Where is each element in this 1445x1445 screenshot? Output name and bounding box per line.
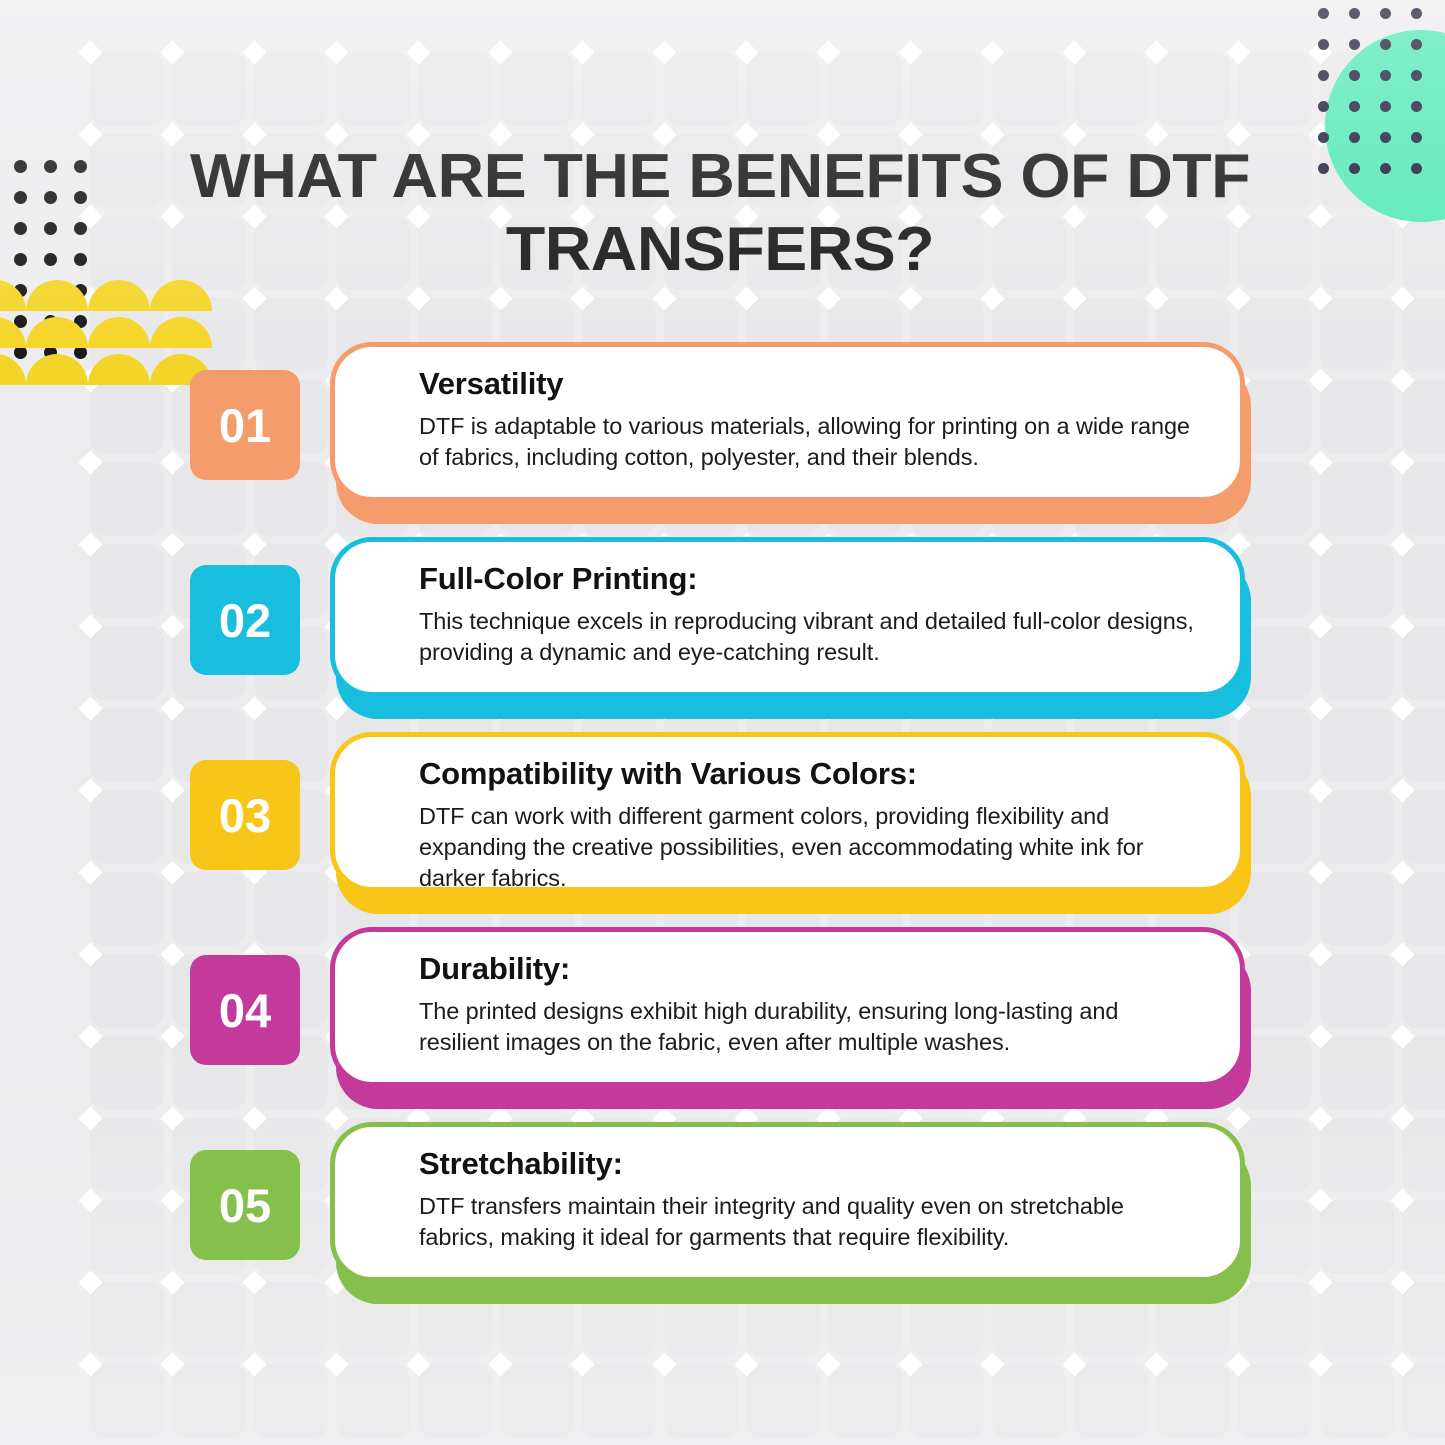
benefit-card: Stretchability:DTF transfers maintain th…: [330, 1122, 1245, 1290]
benefit-heading: Versatility: [419, 367, 1202, 402]
benefit-row: 02Full-Color Printing:This technique exc…: [0, 533, 1445, 728]
benefit-heading: Stretchability:: [419, 1147, 1202, 1182]
dot-grid-top-right-decoration: [1318, 8, 1443, 183]
benefit-row: 01VersatilityDTF is adaptable to various…: [0, 338, 1445, 533]
benefit-number-badge: 05: [190, 1150, 300, 1260]
benefit-card-body: VersatilityDTF is adaptable to various m…: [330, 342, 1245, 502]
benefit-card: Durability:The printed designs exhibit h…: [330, 927, 1245, 1095]
benefit-row: 03Compatibility with Various Colors:DTF …: [0, 728, 1445, 923]
benefit-body-text: DTF can work with different garment colo…: [419, 801, 1202, 895]
benefits-list: 01VersatilityDTF is adaptable to various…: [0, 338, 1445, 1313]
benefit-row: 05Stretchability:DTF transfers maintain …: [0, 1118, 1445, 1313]
benefit-number-badge: 02: [190, 565, 300, 675]
benefit-number-badge: 04: [190, 955, 300, 1065]
benefit-body-text: DTF is adaptable to various materials, a…: [419, 411, 1202, 474]
benefit-number-badge: 03: [190, 760, 300, 870]
benefit-heading: Full-Color Printing:: [419, 562, 1202, 597]
benefit-body-text: The printed designs exhibit high durabil…: [419, 996, 1202, 1059]
benefit-card: Compatibility with Various Colors:DTF ca…: [330, 732, 1245, 900]
benefit-body-text: This technique excels in reproducing vib…: [419, 606, 1202, 669]
benefit-card: Full-Color Printing:This technique excel…: [330, 537, 1245, 705]
page-title: WHAT ARE THE BENEFITS OF DTF TRANSFERS?: [153, 140, 1287, 286]
benefit-heading: Compatibility with Various Colors:: [419, 757, 1202, 792]
benefit-card-body: Full-Color Printing:This technique excel…: [330, 537, 1245, 697]
benefit-heading: Durability:: [419, 952, 1202, 987]
benefit-card-body: Stretchability:DTF transfers maintain th…: [330, 1122, 1245, 1282]
benefit-card-body: Durability:The printed designs exhibit h…: [330, 927, 1245, 1087]
benefit-row: 04Durability:The printed designs exhibit…: [0, 923, 1445, 1118]
infographic-poster: WHAT ARE THE BENEFITS OF DTF TRANSFERS? …: [0, 0, 1445, 1445]
benefit-body-text: DTF transfers maintain their integrity a…: [419, 1191, 1202, 1254]
benefit-card: VersatilityDTF is adaptable to various m…: [330, 342, 1245, 510]
benefit-card-body: Compatibility with Various Colors:DTF ca…: [330, 732, 1245, 892]
benefit-number-badge: 01: [190, 370, 300, 480]
